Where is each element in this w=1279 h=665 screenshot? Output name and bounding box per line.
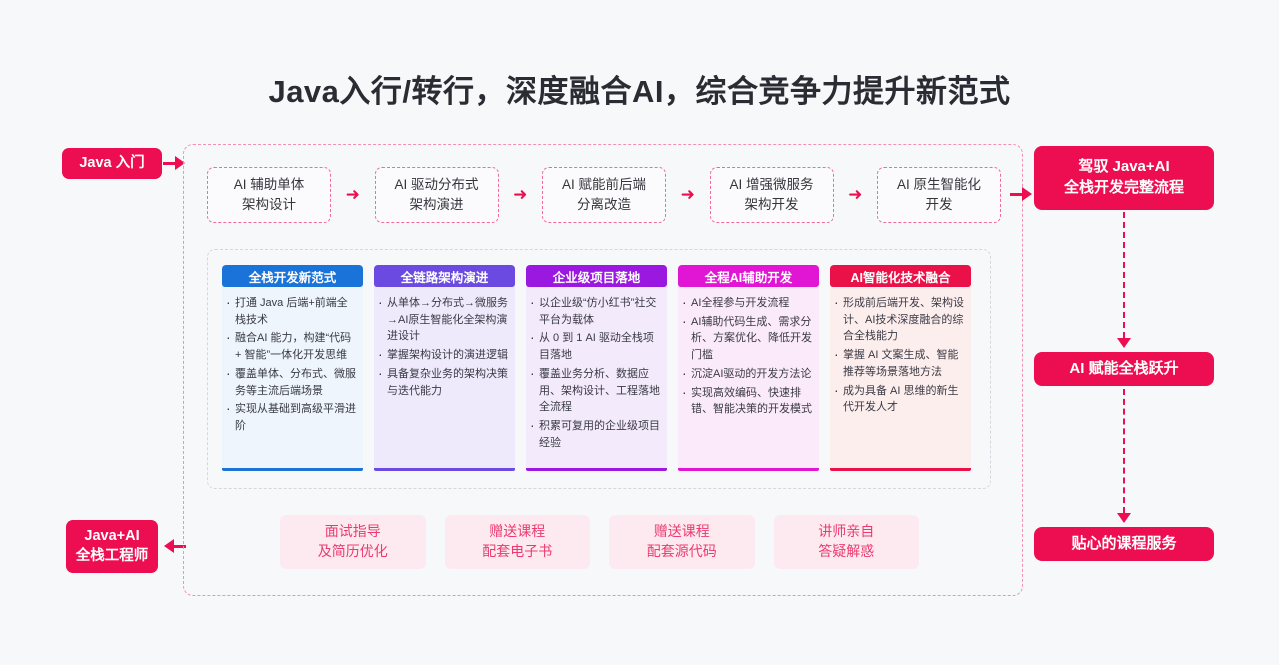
list-item: 掌握 AI 文案生成、智能推荐等场景落地方法 [834,347,965,380]
list-item: 实现高效编码、快速排错、智能决策的开发模式 [682,385,813,418]
list-item: 实现从基础到高级平滑进阶 [226,401,357,434]
connector-vertical-1 [1123,212,1125,338]
service-free-source-code[interactable]: 赠送课程 配套源代码 [609,515,755,569]
badge-java-ai-engineer: Java+AI 全栈工程师 [66,520,158,573]
list-item: 覆盖业务分析、数据应用、架构设计、工程落地全流程 [530,366,661,416]
list-item: 从单体→分布式→微服务→AI原生智能化全架构演进设计 [378,295,509,345]
infographic-page: Java入行/转行，深度融合AI，综合竞争力提升新范式 Java 入门 Java… [0,0,1279,665]
list-item: AI辅助代码生成、需求分析、方案优化、降低开发门槛 [682,314,813,364]
flow-arrow-4-icon: ➜ [834,185,878,205]
outcome-1-line1: 驾驭 Java+AI [1078,157,1169,178]
flow-row: AI 辅助单体 架构设计 ➜ AI 驱动分布式 架构演进 ➜ AI 赋能前后端 … [207,167,1001,223]
connector-down-arrow-1-icon [1117,338,1131,348]
card-4-body: AI全程参与开发流程 AI辅助代码生成、需求分析、方案优化、降低开发门槛 沉淀A… [678,293,819,468]
flow-arrow-3-icon: ➜ [666,185,710,205]
outcome-1-line2: 全栈开发完整流程 [1064,178,1184,199]
flow-step-1[interactable]: AI 辅助单体 架构设计 [207,167,331,223]
flow-arrow-1-icon: ➜ [331,185,375,205]
card-3-accent [526,468,667,471]
flow-step-3[interactable]: AI 赋能前后端 分离改造 [542,167,666,223]
card-1-header: 全栈开发新范式 [222,265,363,287]
card-5-accent [830,468,971,471]
card-2-header: 全链路架构演进 [374,265,515,287]
service-1-line2: 及简历优化 [318,542,388,562]
connector-engineer-arrow-icon [164,539,174,553]
cards-row: 全栈开发新范式 打通 Java 后端+前端全栈技术 融合AI 能力，构建“代码 … [222,265,977,471]
list-item: 掌握架构设计的演进逻辑 [378,347,509,364]
flow-step-2-line1: AI 驱动分布式 [394,175,478,195]
badge-engineer-line1: Java+AI [84,527,139,546]
connector-outcome1-stem [1010,193,1022,196]
outcome-3-line1: 贴心的课程服务 [1071,534,1176,555]
service-4-line2: 答疑解惑 [818,542,874,562]
list-item: 沉淀AI驱动的开发方法论 [682,366,813,383]
card-3-header: 企业级项目落地 [526,265,667,287]
flow-step-3-line2: 分离改造 [577,195,631,215]
list-item: AI全程参与开发流程 [682,295,813,312]
badge-java-entry: Java 入门 [62,148,162,179]
card-1: 全栈开发新范式 打通 Java 后端+前端全栈技术 融合AI 能力，构建“代码 … [222,265,363,471]
card-2-body: 从单体→分布式→微服务→AI原生智能化全架构演进设计 掌握架构设计的演进逻辑 具… [374,293,515,468]
flow-step-5[interactable]: AI 原生智能化 开发 [877,167,1001,223]
service-2-line1: 赠送课程 [489,522,545,542]
service-3-line2: 配套源代码 [647,542,717,562]
badge-java-entry-label: Java 入门 [79,154,144,173]
list-item: 打通 Java 后端+前端全栈技术 [226,295,357,328]
outcome-course-service: 贴心的课程服务 [1034,527,1214,561]
card-3-body: 以企业级“仿小红书”社交平台为载体 从 0 到 1 AI 驱动全栈项目落地 覆盖… [526,293,667,468]
card-1-body: 打通 Java 后端+前端全栈技术 融合AI 能力，构建“代码 + 智能”一体化… [222,293,363,468]
list-item: 融合AI 能力，构建“代码 + 智能”一体化开发思维 [226,330,357,363]
card-5-header: AI智能化技术融合 [830,265,971,287]
flow-step-3-line1: AI 赋能前后端 [562,175,646,195]
list-item: 覆盖单体、分布式、微服务等主流后端场景 [226,366,357,399]
flow-step-1-line1: AI 辅助单体 [234,175,305,195]
service-free-ebook[interactable]: 赠送课程 配套电子书 [445,515,591,569]
flow-step-5-line1: AI 原生智能化 [897,175,981,195]
list-item: 成为具备 AI 思维的新生代开发人才 [834,383,965,416]
outcome-2-line1: AI 赋能全栈跃升 [1069,359,1178,380]
flow-step-2-line2: 架构演进 [410,195,464,215]
card-4-accent [678,468,819,471]
list-item: 积累可复用的企业级项目经验 [530,418,661,451]
service-instructor-qa[interactable]: 讲师亲自 答疑解惑 [774,515,920,569]
card-2: 全链路架构演进 从单体→分布式→微服务→AI原生智能化全架构演进设计 掌握架构设… [374,265,515,471]
outcome-full-stack-process: 驾驭 Java+AI 全栈开发完整流程 [1034,146,1214,210]
service-interview-guidance[interactable]: 面试指导 及简历优化 [280,515,426,569]
flow-step-4-line2: 架构开发 [745,195,799,215]
card-5-body: 形成前后端开发、架构设计、AI技术深度融合的综合全栈能力 掌握 AI 文案生成、… [830,293,971,468]
connector-down-arrow-2-icon [1117,513,1131,523]
page-title: Java入行/转行，深度融合AI，综合竞争力提升新范式 [0,66,1279,111]
list-item: 形成前后端开发、架构设计、AI技术深度融合的综合全栈能力 [834,295,965,345]
connector-entry-stem [163,162,175,165]
service-4-line1: 讲师亲自 [818,522,874,542]
services-row: 面试指导 及简历优化 赠送课程 配套电子书 赠送课程 配套源代码 讲师亲自 答疑… [280,515,919,569]
flow-arrow-2-icon: ➜ [499,185,543,205]
list-item: 以企业级“仿小红书”社交平台为载体 [530,295,661,328]
flow-step-4[interactable]: AI 增强微服务 架构开发 [710,167,834,223]
service-3-line1: 赠送课程 [654,522,710,542]
flow-step-4-line1: AI 增强微服务 [729,175,813,195]
card-5: AI智能化技术融合 形成前后端开发、架构设计、AI技术深度融合的综合全栈能力 掌… [830,265,971,471]
card-1-accent [222,468,363,471]
flow-step-2[interactable]: AI 驱动分布式 架构演进 [375,167,499,223]
card-3: 企业级项目落地 以企业级“仿小红书”社交平台为载体 从 0 到 1 AI 驱动全… [526,265,667,471]
card-4: 全程AI辅助开发 AI全程参与开发流程 AI辅助代码生成、需求分析、方案优化、降… [678,265,819,471]
badge-engineer-line2: 全栈工程师 [76,547,149,566]
connector-outcome1-arrow-icon [1022,187,1032,201]
flow-step-5-line2: 开发 [926,195,953,215]
card-2-accent [374,468,515,471]
list-item: 具备复杂业务的架构决策与迭代能力 [378,366,509,399]
service-1-line1: 面试指导 [325,522,381,542]
service-2-line2: 配套电子书 [482,542,552,562]
card-4-header: 全程AI辅助开发 [678,265,819,287]
flow-step-1-line2: 架构设计 [242,195,296,215]
connector-vertical-2 [1123,389,1125,513]
outcome-ai-empowerment: AI 赋能全栈跃升 [1034,352,1214,386]
list-item: 从 0 到 1 AI 驱动全栈项目落地 [530,330,661,363]
